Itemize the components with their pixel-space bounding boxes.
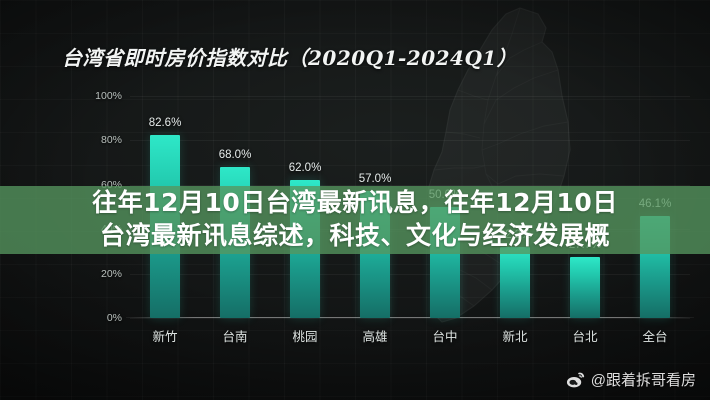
weibo-handle: @跟着拆哥看房 <box>591 369 696 390</box>
weibo-icon <box>566 370 585 389</box>
caption-overlay-band: 往年12月10日台湾最新讯息，往年12月10日 台湾最新讯息综述，科技、文化与经… <box>0 186 710 254</box>
screenshot-root: 台湾省即时房价指数对比（2020Q1-2024Q1） 0%20%40%60%80… <box>0 0 710 400</box>
x-axis-category-label: 新北 <box>502 326 527 345</box>
caption-line-1: 往年12月10日台湾最新讯息，往年12月10日 <box>92 186 618 219</box>
x-axis-category-label: 台北 <box>572 326 597 345</box>
caption-line-2: 台湾最新讯息综述，科技、文化与经济发展概 <box>100 219 610 252</box>
x-axis-category-label: 台南 <box>222 326 247 345</box>
chart-title: 台湾省即时房价指数对比（2020Q1-2024Q1） <box>62 42 517 71</box>
bar-value-label: 57.0% <box>359 173 392 185</box>
x-axis-category-label: 全台 <box>642 326 667 345</box>
y-axis-tick-label: 80% <box>101 134 122 146</box>
bar-value-label: 82.6% <box>149 117 182 129</box>
bar-value-label: 62.0% <box>289 162 322 174</box>
y-gridline <box>130 318 690 319</box>
y-axis-tick-label: 100% <box>95 90 122 102</box>
x-axis-category-label: 桃园 <box>292 326 317 345</box>
x-axis-category-label: 台中 <box>432 326 457 345</box>
bar <box>500 247 530 318</box>
y-axis-tick-label: 0% <box>107 312 122 324</box>
x-axis-category-label: 新竹 <box>152 326 177 345</box>
bar <box>570 257 600 318</box>
bar-value-label: 68.0% <box>219 149 252 161</box>
x-axis-category-label: 高雄 <box>362 326 387 345</box>
y-axis-tick-label: 20% <box>101 268 122 280</box>
weibo-watermark: @跟着拆哥看房 <box>566 369 696 390</box>
